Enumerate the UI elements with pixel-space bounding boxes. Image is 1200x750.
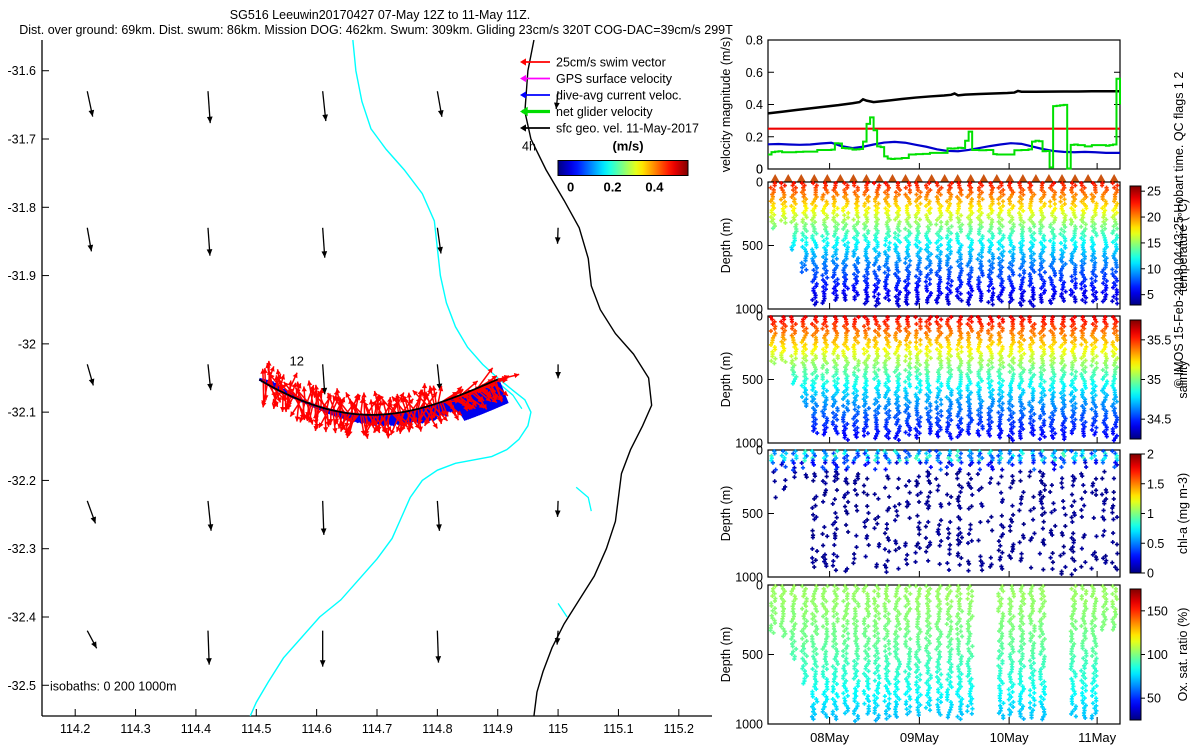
profile-point bbox=[835, 284, 837, 288]
profile-point bbox=[1081, 282, 1083, 286]
profile-point bbox=[1113, 224, 1115, 228]
profile-point bbox=[834, 261, 836, 265]
profile-point bbox=[1030, 240, 1032, 244]
profile-point bbox=[847, 347, 849, 351]
profile-point bbox=[1072, 290, 1074, 294]
profile-point bbox=[857, 240, 859, 244]
legend-label-1: GPS surface velocity bbox=[556, 72, 673, 86]
profile-point bbox=[946, 222, 948, 226]
profile-point bbox=[1113, 256, 1115, 260]
profile-point bbox=[905, 256, 907, 260]
profile-point bbox=[833, 286, 835, 290]
profile-point bbox=[874, 238, 876, 242]
profile-point bbox=[887, 293, 889, 297]
profile-point bbox=[833, 218, 835, 222]
profile-point bbox=[834, 365, 836, 369]
profile-point bbox=[792, 381, 794, 385]
profile-point bbox=[853, 236, 855, 240]
profile-point bbox=[864, 192, 866, 196]
profile-point bbox=[803, 195, 805, 199]
profile-point bbox=[969, 259, 971, 263]
profile-point bbox=[929, 241, 931, 245]
profile-point bbox=[998, 220, 1000, 224]
profile-point bbox=[1049, 199, 1051, 203]
profile-point bbox=[856, 233, 858, 237]
profile-point bbox=[1040, 222, 1042, 226]
profile-point bbox=[1101, 224, 1103, 228]
profile-point bbox=[1040, 256, 1042, 260]
profile-point bbox=[1029, 217, 1031, 221]
map-xtick-label: 115 bbox=[548, 722, 568, 736]
profile-point bbox=[957, 216, 959, 220]
profile-point bbox=[971, 247, 973, 251]
profile-point bbox=[866, 188, 868, 192]
profile-point bbox=[927, 218, 929, 222]
profile-point bbox=[771, 317, 773, 321]
profile-point bbox=[895, 201, 897, 205]
profile-point bbox=[771, 219, 773, 223]
profile-point bbox=[812, 298, 814, 302]
profile-point bbox=[845, 273, 847, 277]
profile-point bbox=[772, 217, 774, 221]
profile-point bbox=[804, 399, 806, 403]
profile-point bbox=[853, 373, 855, 377]
profile-point bbox=[1065, 262, 1067, 266]
profile-point bbox=[1103, 215, 1105, 219]
profile-point bbox=[917, 188, 919, 192]
profile-point bbox=[928, 238, 930, 242]
map-xtick-label: 115.2 bbox=[664, 722, 694, 736]
legend-cbar-tick-2: 0.4 bbox=[645, 180, 664, 195]
profile-point bbox=[793, 372, 795, 376]
profile-point bbox=[895, 249, 897, 253]
profile-point bbox=[1011, 284, 1013, 288]
profile-point bbox=[949, 245, 951, 249]
profile-point bbox=[967, 215, 969, 219]
profile-point bbox=[938, 238, 940, 242]
profile-point bbox=[875, 204, 877, 208]
profile-point bbox=[806, 393, 808, 397]
profile-point bbox=[792, 188, 794, 192]
profile-point bbox=[771, 210, 773, 214]
profile-point bbox=[1019, 206, 1021, 210]
profile-point bbox=[936, 273, 938, 277]
profile-point bbox=[1115, 283, 1117, 287]
profile-point bbox=[909, 190, 911, 194]
profile-point bbox=[898, 292, 900, 296]
profile-point bbox=[846, 422, 848, 426]
profile-point bbox=[908, 222, 910, 226]
profile-point bbox=[1002, 254, 1004, 258]
profile-point bbox=[977, 257, 979, 261]
profile-point bbox=[925, 247, 927, 251]
profile-point bbox=[866, 276, 868, 280]
profile-point bbox=[833, 234, 835, 238]
profile-point bbox=[1113, 281, 1115, 285]
profile-point bbox=[865, 238, 867, 242]
velocity-ytick-label-2: 0.4 bbox=[746, 98, 763, 112]
profile-point bbox=[875, 303, 877, 307]
profile-point bbox=[1064, 225, 1066, 229]
profile-point bbox=[885, 287, 887, 291]
profile-point bbox=[927, 250, 929, 254]
profile-point bbox=[1002, 204, 1004, 208]
profile-point bbox=[894, 217, 896, 221]
colorbar-tick-label-0: 5 bbox=[1147, 288, 1154, 302]
profile-point bbox=[920, 190, 922, 194]
profile-point bbox=[812, 360, 814, 364]
profile-point bbox=[896, 204, 898, 208]
profile-point bbox=[885, 181, 887, 185]
profile-point bbox=[908, 254, 910, 258]
map-panel[interactable]: 114.2114.3114.4114.5114.6114.7114.8114.9… bbox=[0, 34, 730, 750]
profile-point bbox=[875, 208, 877, 212]
profile-point bbox=[792, 183, 794, 187]
profile-point bbox=[957, 259, 959, 263]
profile-point bbox=[1081, 183, 1083, 187]
profile-point bbox=[811, 395, 813, 399]
profile-point bbox=[833, 245, 835, 249]
profile-point bbox=[791, 204, 793, 208]
profile-point bbox=[1011, 188, 1013, 192]
profile-point bbox=[1041, 188, 1043, 192]
profile-point bbox=[906, 268, 908, 272]
profile-point bbox=[1116, 279, 1118, 283]
profile-point bbox=[1043, 291, 1045, 295]
profile-point bbox=[1104, 297, 1106, 301]
profile-point bbox=[927, 257, 929, 261]
profile-point bbox=[898, 297, 900, 301]
profile-point bbox=[884, 190, 886, 194]
profile-point bbox=[908, 281, 910, 285]
profile-point bbox=[1092, 181, 1094, 185]
profile-point bbox=[888, 229, 890, 233]
map-xtick-label: 114.5 bbox=[241, 722, 271, 736]
profile-point bbox=[866, 258, 868, 262]
map-ytick-label: -31.9 bbox=[8, 269, 37, 283]
profile-point bbox=[784, 216, 786, 220]
profile-point bbox=[813, 420, 815, 424]
profile-point bbox=[770, 186, 772, 190]
profile-point bbox=[781, 340, 783, 344]
profile-point bbox=[1116, 190, 1118, 194]
profile-point bbox=[1081, 199, 1083, 203]
profile-point bbox=[1001, 258, 1003, 262]
profile-point bbox=[806, 229, 808, 233]
profile-point bbox=[875, 226, 877, 230]
profile-point bbox=[1071, 238, 1073, 242]
profile-point bbox=[847, 392, 849, 396]
profile-point bbox=[1083, 280, 1085, 284]
profile-point bbox=[916, 204, 918, 208]
legend-label-2: dive-avg current veloc. bbox=[556, 89, 682, 103]
profile-point bbox=[1041, 243, 1043, 247]
profile-point bbox=[1050, 301, 1052, 305]
profile-point bbox=[916, 192, 918, 196]
profile-point bbox=[990, 282, 992, 286]
velocity-zero-label-dup: 0 bbox=[756, 163, 763, 177]
profile-point bbox=[823, 336, 825, 340]
profile-point bbox=[843, 227, 845, 231]
profile-point bbox=[822, 301, 824, 305]
profile-point bbox=[896, 301, 898, 305]
profile-point bbox=[847, 286, 849, 290]
profile-point bbox=[981, 225, 983, 229]
profile-point bbox=[1106, 202, 1108, 206]
profile-point bbox=[1053, 259, 1055, 263]
profile-point bbox=[1095, 279, 1097, 283]
profile-point bbox=[847, 438, 849, 442]
profile-point bbox=[1071, 279, 1073, 283]
profile-point bbox=[803, 188, 805, 192]
profile-point bbox=[998, 247, 1000, 251]
profile-point bbox=[1062, 287, 1064, 291]
profile-point bbox=[774, 361, 776, 365]
profile-point bbox=[969, 188, 971, 192]
profile-point bbox=[1106, 188, 1108, 192]
profile-point bbox=[845, 426, 847, 430]
map-xtick-label: 114.9 bbox=[483, 722, 513, 736]
profile-point bbox=[998, 215, 1000, 219]
profile-point bbox=[917, 197, 919, 201]
dive-marker bbox=[875, 174, 884, 182]
profile-point bbox=[958, 296, 960, 300]
profile-point bbox=[978, 188, 980, 192]
profile-point bbox=[929, 188, 931, 192]
profile-point bbox=[1106, 279, 1108, 283]
profile-point bbox=[1102, 197, 1104, 201]
profile-point bbox=[845, 204, 847, 208]
timeseries-panels[interactable]: 00.20.40.60.8velocity magnitude (m/s)005… bbox=[710, 34, 1200, 750]
profile-point bbox=[887, 209, 889, 213]
profile-point bbox=[1075, 286, 1077, 290]
profile-point bbox=[1065, 246, 1067, 250]
profile-point bbox=[846, 345, 848, 349]
profile-point bbox=[774, 183, 776, 187]
profile-point bbox=[805, 197, 807, 201]
profile-ytick-label-0: 0 bbox=[756, 310, 763, 324]
profile-point bbox=[1003, 249, 1005, 253]
profile-point bbox=[822, 234, 824, 238]
profile-point bbox=[981, 250, 983, 254]
profile-point bbox=[957, 211, 959, 215]
profile-point bbox=[1033, 231, 1035, 235]
profile-point bbox=[1092, 299, 1094, 303]
profile-point bbox=[979, 181, 981, 185]
profile-point bbox=[1092, 288, 1094, 292]
profile-point bbox=[916, 281, 918, 285]
profile-point bbox=[785, 221, 787, 225]
dive-marker bbox=[901, 174, 910, 182]
profile-point bbox=[867, 245, 869, 249]
dive-marker bbox=[862, 174, 871, 182]
profile-point bbox=[1092, 254, 1094, 258]
profile-point bbox=[991, 211, 993, 215]
profile-point bbox=[917, 267, 919, 271]
profile-point bbox=[1072, 202, 1074, 206]
profile-point bbox=[998, 274, 1000, 278]
profile-point bbox=[835, 289, 837, 293]
profile-point bbox=[948, 229, 950, 233]
profile-point bbox=[814, 410, 816, 414]
profile-point bbox=[1116, 297, 1118, 301]
legend-cbar-tick-1: 0.2 bbox=[603, 180, 621, 195]
profile-point bbox=[864, 226, 866, 230]
profile-point bbox=[899, 240, 901, 244]
profile-axis-label-salinity: Depth (m) bbox=[719, 352, 733, 408]
profile-point bbox=[948, 277, 950, 281]
profile-point bbox=[1010, 295, 1012, 299]
profile-point bbox=[866, 299, 868, 303]
profile-point bbox=[1062, 181, 1064, 185]
profile-point bbox=[856, 268, 858, 272]
profile-point bbox=[928, 202, 930, 206]
profile-point bbox=[792, 368, 794, 372]
profile-point bbox=[1091, 192, 1093, 196]
profile-point bbox=[816, 231, 818, 235]
profile-point bbox=[825, 259, 827, 263]
profile-point bbox=[888, 248, 890, 252]
profile-point bbox=[1061, 266, 1063, 270]
profile-point bbox=[959, 190, 961, 194]
profile-point bbox=[815, 392, 817, 396]
profile-point bbox=[801, 190, 803, 194]
profile-point bbox=[1102, 290, 1104, 294]
profile-point bbox=[843, 342, 845, 346]
dive-marker bbox=[849, 174, 858, 182]
profile-point bbox=[843, 238, 845, 242]
profile-point bbox=[783, 195, 785, 199]
profile-point bbox=[801, 340, 803, 344]
profile-point bbox=[1003, 236, 1005, 240]
profile-point bbox=[825, 402, 827, 406]
profile-point bbox=[937, 248, 939, 252]
profile-point bbox=[899, 258, 901, 262]
profile-point bbox=[1094, 226, 1096, 230]
profile-point bbox=[772, 322, 774, 326]
profile-point bbox=[816, 300, 818, 304]
profile-point bbox=[981, 264, 983, 268]
profile-point bbox=[982, 197, 984, 201]
profile-point bbox=[1040, 240, 1042, 244]
profile-point bbox=[832, 411, 834, 415]
profile-point bbox=[1101, 270, 1103, 274]
legend-cbar-title: (m/s) bbox=[612, 139, 643, 154]
profile-point bbox=[884, 264, 886, 268]
profile-point bbox=[919, 249, 921, 253]
map-ytick-label: -32.4 bbox=[8, 610, 37, 624]
profile-point bbox=[782, 202, 784, 206]
profile-point bbox=[844, 190, 846, 194]
profile-point bbox=[1051, 253, 1053, 257]
profile-point bbox=[854, 227, 856, 231]
profile-point bbox=[1052, 287, 1054, 291]
profile-point bbox=[982, 236, 984, 240]
profile-frame-temperature bbox=[768, 182, 1120, 309]
profile-point bbox=[1112, 285, 1114, 289]
profile-point bbox=[843, 291, 845, 295]
profile-point bbox=[885, 252, 887, 256]
profile-point bbox=[878, 254, 880, 258]
profile-point bbox=[853, 183, 855, 187]
profile-point bbox=[907, 277, 909, 281]
profile-point bbox=[773, 206, 775, 210]
profile-point bbox=[806, 215, 808, 219]
profile-point bbox=[812, 406, 814, 410]
profile-point bbox=[855, 192, 857, 196]
profile-point bbox=[968, 282, 970, 286]
profile-point bbox=[939, 229, 941, 233]
profile-point bbox=[853, 254, 855, 258]
profile-point bbox=[936, 232, 938, 236]
profile-point bbox=[847, 211, 849, 215]
profile-point bbox=[919, 195, 921, 199]
profile-point bbox=[878, 301, 880, 305]
profile-point bbox=[1001, 183, 1003, 187]
profile-point bbox=[805, 404, 807, 408]
track-annotation-12: 12 bbox=[289, 354, 303, 369]
profile-panel-temperature: 05001000Depth (m)510152025temperature (°… bbox=[719, 176, 1190, 317]
profile-point bbox=[1011, 218, 1013, 222]
profile-point bbox=[816, 266, 818, 270]
profile-point bbox=[1052, 188, 1054, 192]
profile-point bbox=[889, 218, 891, 222]
profile-point bbox=[803, 351, 805, 355]
profile-point bbox=[981, 220, 983, 224]
profile-point bbox=[801, 181, 803, 185]
profile-point bbox=[844, 395, 846, 399]
profile-point bbox=[950, 186, 952, 190]
profile-point bbox=[826, 379, 828, 383]
profile-point bbox=[1039, 272, 1041, 276]
profile-point bbox=[1043, 204, 1045, 208]
profile-point bbox=[826, 370, 828, 374]
profile-point bbox=[1029, 283, 1031, 287]
profile-point bbox=[968, 302, 970, 306]
profile-point bbox=[1000, 283, 1002, 287]
profile-point bbox=[1043, 284, 1045, 288]
profile-point bbox=[822, 327, 824, 331]
profile-point bbox=[950, 283, 952, 287]
profile-point bbox=[834, 273, 836, 277]
profile-point bbox=[938, 268, 940, 272]
profile-point bbox=[835, 243, 837, 247]
profile-point bbox=[784, 337, 786, 341]
profile-point bbox=[1070, 288, 1072, 292]
profile-point bbox=[805, 358, 807, 362]
profile-point bbox=[908, 243, 910, 247]
profile-point bbox=[846, 186, 848, 190]
profile-point bbox=[816, 404, 818, 408]
profile-point bbox=[832, 259, 834, 263]
profile-point bbox=[1023, 259, 1025, 263]
profile-point bbox=[837, 345, 839, 349]
profile-point bbox=[1033, 258, 1035, 262]
profile-point bbox=[956, 195, 958, 199]
profile-point bbox=[894, 236, 896, 240]
profile-point bbox=[1041, 218, 1043, 222]
profile-point bbox=[1031, 190, 1033, 194]
profile-point bbox=[794, 345, 796, 349]
profile-point bbox=[805, 268, 807, 272]
profile-point bbox=[857, 215, 859, 219]
profile-point bbox=[887, 202, 889, 206]
profile-point bbox=[946, 286, 948, 290]
profile-point bbox=[1073, 249, 1075, 253]
profile-point bbox=[940, 291, 942, 295]
colorbar-tick-label-4: 25 bbox=[1147, 185, 1161, 199]
profile-point bbox=[916, 302, 918, 306]
